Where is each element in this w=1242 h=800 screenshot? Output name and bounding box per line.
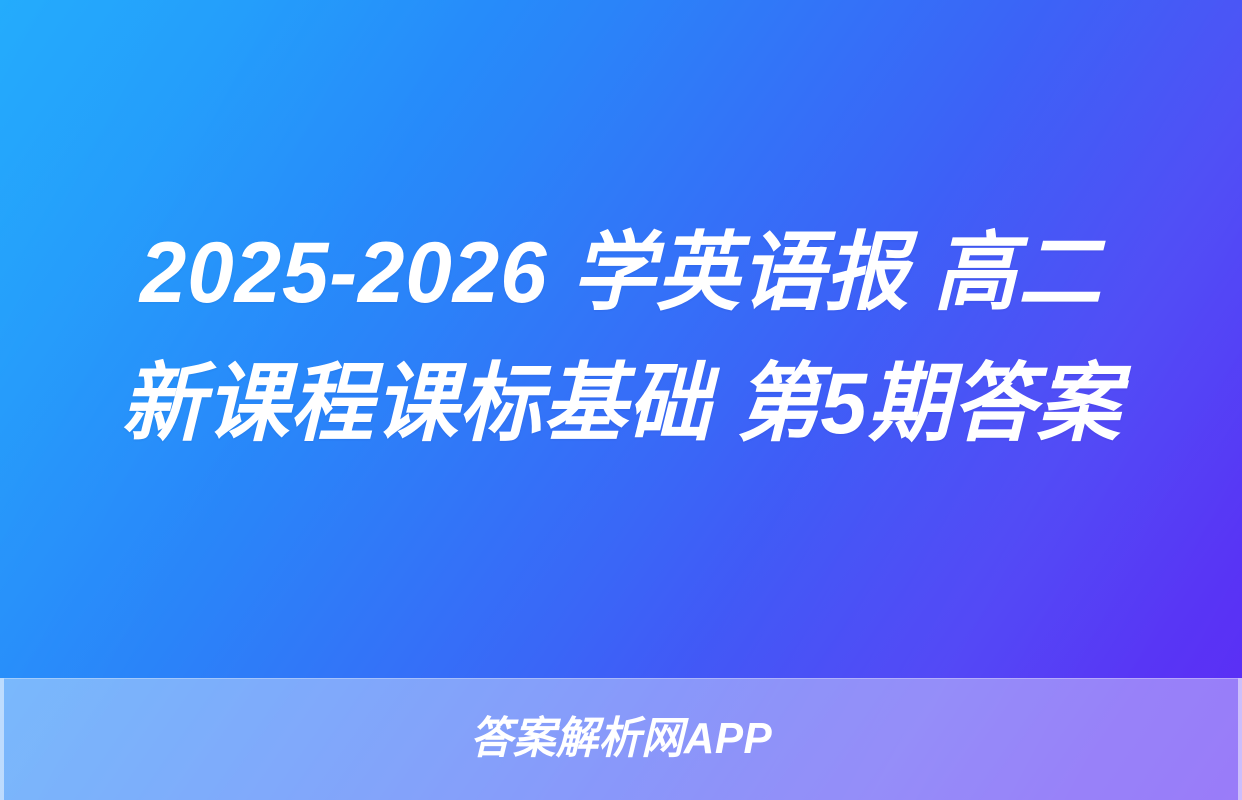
watermark-band: 答案解析网APP <box>0 678 1242 800</box>
app-watermark-label: 答案解析网APP <box>470 717 772 761</box>
answer-poster: 2025-2026 学英语报 高二 新课程课标基础 第5期答案 答案解析网APP <box>0 0 1242 800</box>
band-top-divider <box>4 678 1238 679</box>
page-title: 2025-2026 学英语报 高二 新课程课标基础 第5期答案 <box>88 208 1155 469</box>
headline-container: 2025-2026 学英语报 高二 新课程课标基础 第5期答案 <box>0 0 1242 678</box>
